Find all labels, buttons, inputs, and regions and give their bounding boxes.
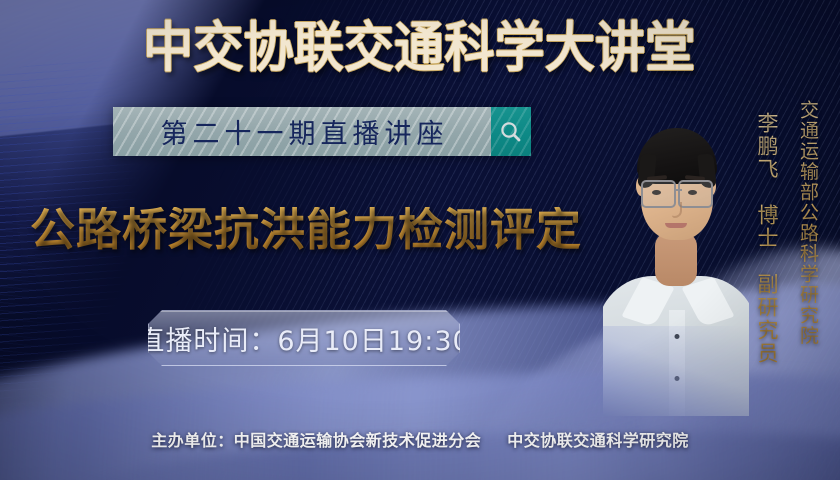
- search-icon: [499, 120, 523, 144]
- background-vignette: [0, 0, 840, 480]
- series-search-field[interactable]: 第二十一期直播讲座: [113, 107, 491, 156]
- live-lecture-poster: 中 交 协 联 交 通 科 学 大 讲 堂 第二十一期直播讲座 公路桥梁抗洪能力…: [0, 0, 840, 480]
- series-search-label: 第二十一期直播讲座: [156, 112, 449, 151]
